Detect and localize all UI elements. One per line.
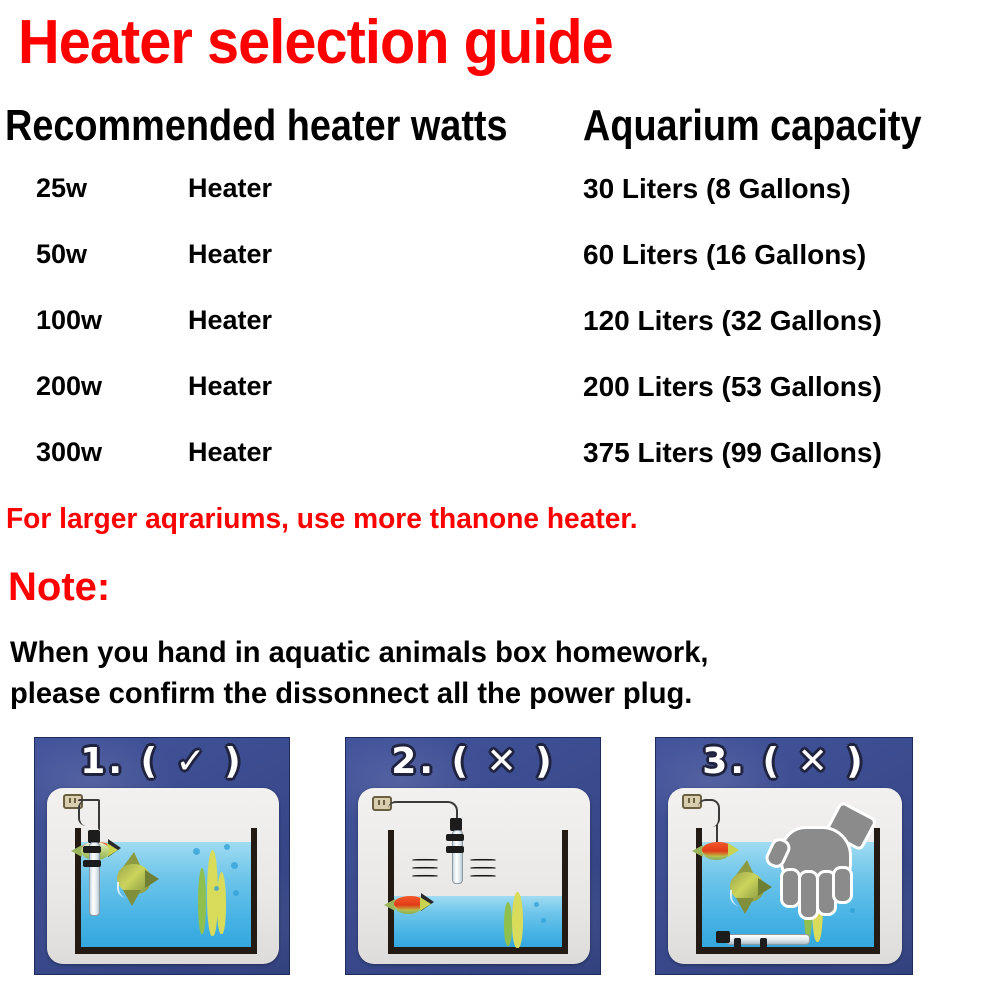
- cell-capacity: 375 Liters (99 Gallons): [583, 439, 882, 467]
- cell-device: Heater: [188, 373, 272, 400]
- note-line-2: please confirm the dissonnect all the po…: [10, 673, 941, 714]
- heater-clip: [734, 938, 741, 948]
- illustration-panel-2-wrong-low-water: 2. ( ✕ ): [345, 737, 601, 975]
- bubble: [541, 918, 546, 923]
- heat-wave-icon: [470, 874, 496, 878]
- cell-capacity: 200 Liters (53 Gallons): [583, 373, 882, 401]
- cell-watts: 100w: [36, 307, 102, 334]
- panel-1-label: 1. ( ✓ ): [35, 742, 289, 782]
- cell-watts: 25w: [36, 175, 87, 202]
- bubble: [224, 844, 230, 850]
- table-row: 200w Heater 200 Liters (53 Gallons): [0, 373, 1002, 439]
- power-cord-segment: [78, 799, 100, 803]
- illustration-panel-3-wrong-hand-in-water: 3. ( ✕ ): [655, 737, 913, 975]
- illustration-panel-1-correct: 1. ( ✓ ): [34, 737, 290, 975]
- note-line-1: When you hand in aquatic animals box hom…: [10, 632, 941, 673]
- heater-selection-guide-page: Heater selection guide Recommended heate…: [0, 0, 1002, 1002]
- cell-capacity: 30 Liters (8 Gallons): [583, 175, 851, 203]
- bubble: [233, 890, 239, 896]
- column-header-watts: Recommended heater watts: [5, 104, 508, 148]
- note-label: Note:: [8, 567, 110, 607]
- heater-clip: [83, 860, 101, 867]
- bubble: [534, 902, 539, 907]
- illustration-panels: 1. ( ✓ ): [0, 737, 1002, 977]
- power-cord: [388, 801, 458, 825]
- bubble: [231, 862, 238, 869]
- cell-capacity: 120 Liters (32 Gallons): [583, 307, 882, 335]
- panel-3-label: 3. ( ✕ ): [656, 742, 912, 782]
- heater-clip: [446, 834, 464, 841]
- cell-device: Heater: [188, 307, 272, 334]
- cell-device: Heater: [188, 439, 272, 466]
- cell-capacity: 60 Liters (16 Gallons): [583, 241, 866, 269]
- cell-watts: 300w: [36, 439, 102, 466]
- cell-watts: 200w: [36, 373, 102, 400]
- table-row: 50w Heater 60 Liters (16 Gallons): [0, 241, 1002, 307]
- panel-3-card: [668, 788, 902, 964]
- table-row: 300w Heater 375 Liters (99 Gallons): [0, 439, 1002, 505]
- panel-1-card: [47, 788, 279, 964]
- heater-clip: [446, 846, 464, 853]
- aquarium-plant: [504, 902, 512, 946]
- column-header-capacity: Aquarium capacity: [583, 104, 922, 148]
- heat-wave-icon: [470, 866, 496, 870]
- bubble: [850, 908, 855, 913]
- heater-clip: [83, 846, 101, 853]
- aquarium-plant: [512, 892, 523, 948]
- cell-watts: 50w: [36, 241, 87, 268]
- aquarium-plant: [198, 868, 206, 934]
- page-title: Heater selection guide: [18, 12, 613, 74]
- heater-clip: [760, 938, 767, 948]
- aquarium-tank: [75, 828, 257, 954]
- hand-finger: [832, 866, 853, 904]
- power-cord-drop: [98, 800, 102, 830]
- aquarium-tank: [388, 830, 568, 954]
- heat-wave-icon: [412, 866, 438, 870]
- table-row: 100w Heater 120 Liters (32 Gallons): [0, 307, 1002, 373]
- cell-device: Heater: [188, 241, 272, 268]
- panel-2-label: 2. ( ✕ ): [346, 742, 600, 782]
- heater-tube: [89, 842, 100, 916]
- aquarium-plant: [217, 872, 226, 934]
- tank-water: [81, 842, 251, 947]
- panel-2-card: [358, 788, 590, 964]
- table-row: 25w Heater 30 Liters (8 Gallons): [0, 175, 1002, 241]
- heater-head: [716, 931, 730, 943]
- bubble: [193, 848, 200, 855]
- heat-wave-icon: [412, 858, 438, 862]
- warning-text: For larger aqrariums, use more thanone h…: [6, 505, 638, 534]
- heat-wave-icon: [412, 874, 438, 878]
- bubble: [214, 886, 219, 891]
- cell-device: Heater: [188, 175, 272, 202]
- note-body: When you hand in aquatic animals box hom…: [10, 632, 941, 715]
- power-cord: [698, 799, 720, 827]
- heat-wave-icon: [470, 858, 496, 862]
- tank-water: [394, 896, 562, 947]
- spec-table: 25w Heater 30 Liters (8 Gallons) 50w Hea…: [0, 175, 1002, 505]
